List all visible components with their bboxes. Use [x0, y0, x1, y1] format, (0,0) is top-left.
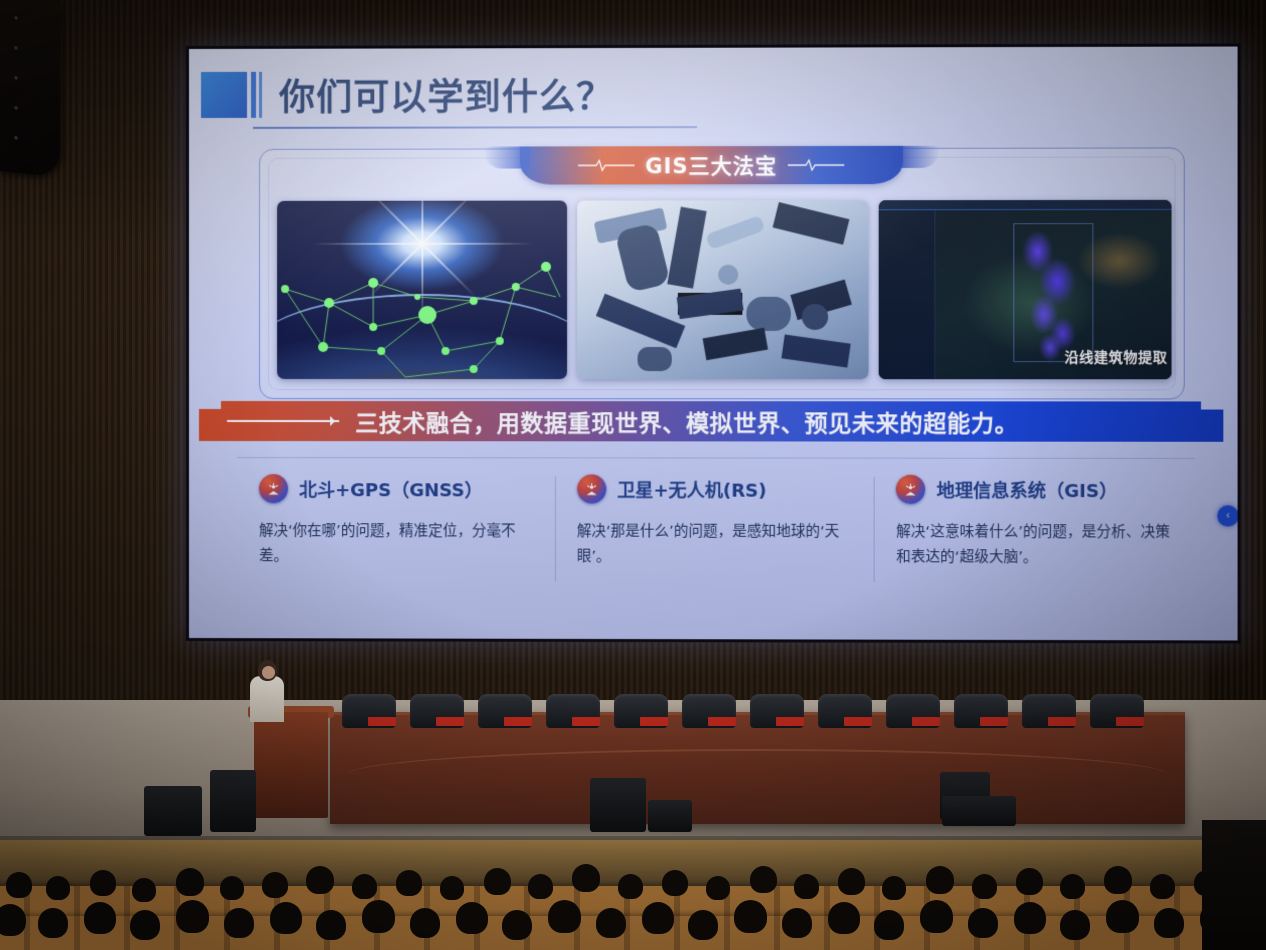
audience-head	[316, 910, 346, 940]
audience-head	[528, 874, 553, 899]
title-accent-bar	[251, 72, 256, 118]
stage-monitor-speaker	[210, 770, 256, 832]
table-nameplate	[844, 717, 872, 726]
presenter-face	[262, 666, 275, 679]
table-nameplate	[572, 717, 600, 726]
long-arrow-right-icon	[227, 420, 339, 422]
ceiling-speaker-array	[0, 0, 60, 177]
audience-head	[352, 874, 377, 899]
gis-system-icon	[896, 475, 925, 504]
audience-head	[1104, 866, 1132, 894]
pillar-gis: 地理信息系统（GIS） 解决‘这意味着什么’的问题，是分析、决策和表达的‘超级大…	[874, 475, 1195, 619]
audience-head	[662, 870, 688, 896]
audience-head	[1060, 910, 1090, 940]
audience-head	[1154, 908, 1184, 938]
summary-banner: 三技术融合，用数据重现世界、模拟世界、预见未来的超能力。	[199, 401, 1223, 442]
audience-head	[1106, 900, 1139, 933]
table-nameplate	[708, 717, 736, 726]
pillar-remote-sensing: 卫星+无人机(RS) 解决‘那是什么’的问题，是感知地球的‘天眼’。	[555, 474, 874, 618]
audience-head	[1060, 874, 1085, 899]
podium	[254, 712, 328, 818]
page-title: 你们可以学到什么？	[279, 68, 613, 121]
satellite-cluster-photo	[577, 200, 868, 379]
audience-head	[750, 866, 777, 893]
table-nameplate	[1116, 717, 1144, 726]
gnss-satellite-icon	[259, 474, 288, 503]
audience-head	[130, 910, 160, 940]
audience-area	[0, 860, 1266, 950]
gis-dashboard-photo: 沿线建筑物提取	[879, 200, 1172, 379]
side-curtain	[1202, 820, 1266, 950]
pillar-description: 解决‘那是什么’的问题，是感知地球的‘天眼’。	[577, 520, 852, 571]
audience-head	[132, 878, 156, 902]
gis-toolbar	[879, 200, 1172, 210]
audience-head	[874, 910, 904, 940]
audience-head	[882, 876, 906, 900]
audience-head	[920, 900, 953, 933]
section-pill-label: GIS三大法宝	[645, 150, 777, 180]
gis-system-glyph	[902, 481, 919, 498]
audience-head	[0, 904, 26, 936]
auditorium-scene: 你们可以学到什么？ GIS三大法宝	[0, 0, 1266, 950]
remote-sensing-glyph	[583, 480, 600, 497]
audience-head	[456, 902, 488, 934]
audience-head	[176, 900, 209, 933]
audience-head	[38, 908, 68, 938]
panel-table	[330, 712, 1185, 824]
audience-head	[548, 900, 581, 933]
audience-head	[440, 876, 464, 900]
presenter-body	[250, 676, 284, 722]
pillar-title: 卫星+无人机(RS)	[617, 476, 767, 502]
pillar-title: 地理信息系统（GIS）	[937, 476, 1118, 502]
table-nameplate	[776, 717, 804, 726]
audience-head	[84, 902, 116, 934]
gis-extraction-overlay	[1013, 224, 1093, 363]
remote-sensing-icon	[577, 474, 606, 503]
audience-head	[1150, 874, 1175, 899]
audience-head	[968, 908, 998, 938]
presentation-slide: 你们可以学到什么？ GIS三大法宝	[189, 47, 1238, 641]
audience-head	[502, 910, 532, 940]
gis-side-panel	[879, 210, 936, 379]
audience-head	[224, 908, 254, 938]
audience-head	[1016, 868, 1043, 895]
audience-head	[46, 876, 70, 900]
pillar-header: 卫星+无人机(RS)	[577, 474, 852, 503]
satellite-shapes	[577, 200, 868, 379]
globe-network-photo	[277, 201, 567, 380]
audience-head	[484, 868, 511, 895]
audience-head	[926, 866, 954, 894]
audience-head	[828, 902, 860, 934]
audience-head	[176, 868, 204, 896]
gnss-satellite-glyph	[265, 480, 282, 497]
audience-head	[972, 874, 997, 899]
stage-monitor-speaker	[144, 786, 202, 836]
table-nameplate	[640, 717, 668, 726]
table-nameplate	[504, 717, 532, 726]
three-pillars-row: 北斗+GPS（GNSS） 解决‘你在哪’的问题，精准定位，分毫不差。	[237, 457, 1195, 619]
audience-head	[734, 900, 767, 933]
gis-photo-caption: 沿线建筑物提取	[1064, 347, 1167, 367]
pillar-title: 北斗+GPS（GNSS）	[299, 476, 483, 502]
audience-head	[306, 866, 334, 894]
audience-head	[1014, 902, 1046, 934]
audience-head	[706, 876, 730, 900]
audience-head	[270, 902, 302, 934]
title-underline	[253, 126, 697, 129]
photo-strip: 沿线建筑物提取	[277, 200, 1171, 379]
section-pill-banner: GIS三大法宝	[520, 146, 903, 185]
audience-head	[618, 874, 643, 899]
satellite-network-overlay	[277, 201, 567, 380]
table-nameplate	[912, 717, 940, 726]
summary-banner-text: 三技术融合，用数据重现世界、模拟世界、预见未来的超能力。	[355, 404, 1018, 439]
audience-head	[262, 872, 288, 898]
pillar-description: 解决‘你在哪’的问题，精准定位，分毫不差。	[259, 519, 533, 570]
audience-head	[90, 870, 116, 896]
pulse-line-icon	[787, 158, 844, 172]
pillar-header: 北斗+GPS（GNSS）	[259, 474, 533, 503]
stage-monitor-speaker	[648, 800, 692, 832]
audience-head	[794, 874, 819, 899]
pillar-description: 解决‘这意味着什么’的问题，是分析、决策和表达的‘超级大脑’。	[896, 520, 1172, 572]
audience-head	[642, 902, 674, 934]
audience-head	[410, 908, 440, 938]
table-nameplate	[368, 717, 396, 726]
pillar-header: 地理信息系统（GIS）	[896, 475, 1172, 505]
table-nameplate	[436, 717, 464, 726]
audience-head	[572, 864, 600, 892]
audience-head	[782, 908, 812, 938]
chevron-left-icon[interactable]: ‹	[1217, 505, 1237, 526]
stage-monitor-speaker	[942, 796, 1016, 826]
title-accent-block	[201, 72, 247, 118]
table-nameplate	[1048, 717, 1076, 726]
pulse-line-icon	[579, 158, 635, 172]
audience-head	[396, 870, 422, 896]
audience-head	[596, 908, 626, 938]
audience-head	[838, 868, 865, 895]
audience-head	[220, 876, 244, 900]
audience-head	[362, 900, 395, 933]
table-nameplate	[980, 717, 1008, 726]
pillar-gnss: 北斗+GPS（GNSS） 解决‘你在哪’的问题，精准定位，分毫不差。	[237, 474, 555, 618]
title-accent-bar-thin	[259, 72, 262, 118]
stage-monitor-speaker	[590, 778, 646, 832]
audience-head	[6, 872, 32, 898]
projection-screen: 你们可以学到什么？ GIS三大法宝	[186, 43, 1241, 643]
audience-head	[688, 910, 718, 940]
slide-title-row: 你们可以学到什么？	[201, 68, 613, 121]
